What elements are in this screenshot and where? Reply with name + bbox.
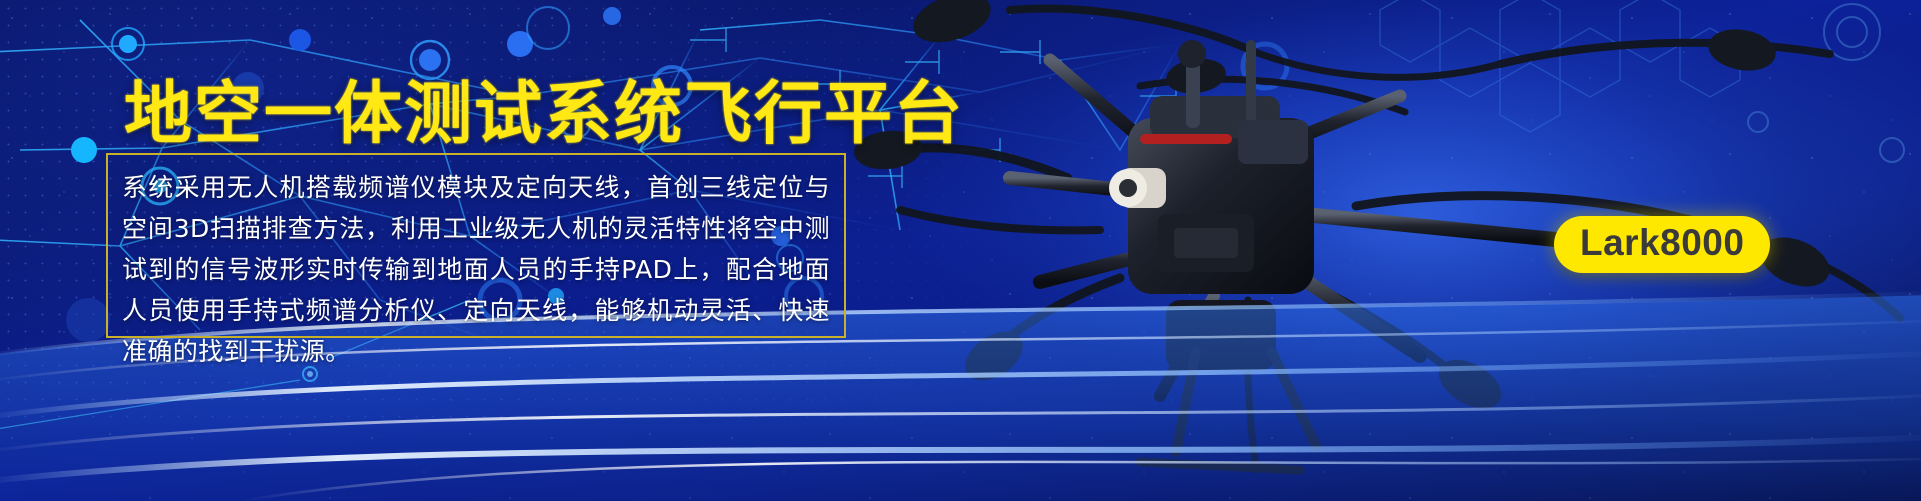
description-text: 系统采用无人机搭载频谱仪模块及定向天线，首创三线定位与空间3D扫描排查方法，利用… xyxy=(122,167,830,372)
page-title: 地空一体测试系统飞行平台 xyxy=(124,78,964,152)
product-model-badge: Lark8000 xyxy=(1554,216,1770,273)
product-banner: 地空一体测试系统飞行平台 系统采用无人机搭载频谱仪模块及定向天线，首创三线定位与… xyxy=(0,0,1921,501)
description-box: 系统采用无人机搭载频谱仪模块及定向天线，首创三线定位与空间3D扫描排查方法，利用… xyxy=(106,153,846,338)
